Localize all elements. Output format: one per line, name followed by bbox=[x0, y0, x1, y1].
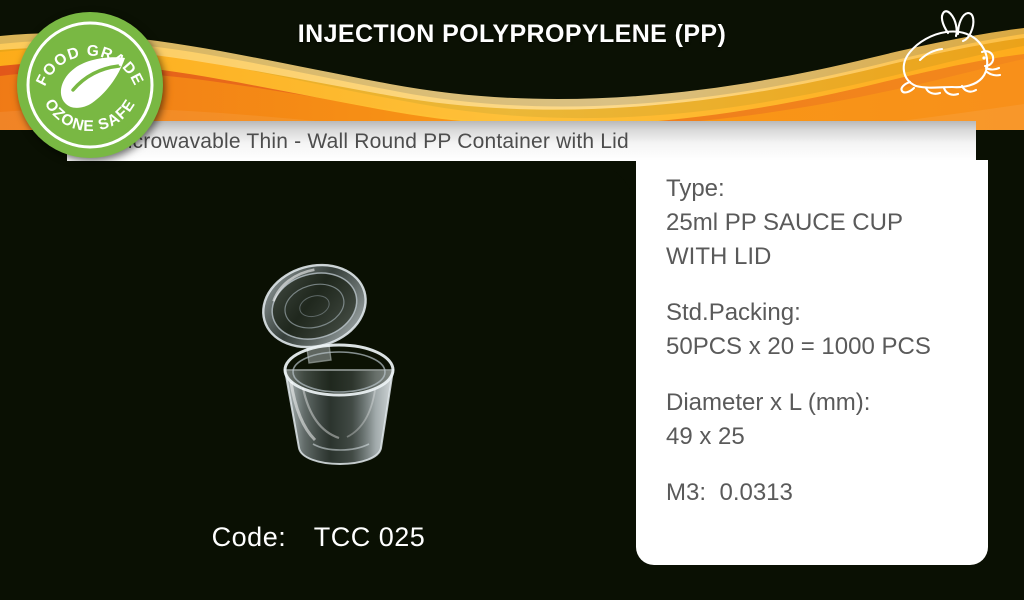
info-group-m3: M3: 0.0313 bbox=[666, 476, 988, 510]
info-group-dimensions: Diameter x L (mm): 49 x 25 bbox=[666, 386, 988, 454]
food-grade-ozone-safe-badge: FOOD GRADE OZONE SAFE bbox=[15, 10, 165, 160]
type-value-line2: WITH LID bbox=[666, 240, 988, 274]
product-info-panel: Type: 25ml PP SAUCE CUP WITH LID Std.Pac… bbox=[636, 160, 988, 565]
product-code-label: Code: bbox=[212, 522, 287, 552]
product-code: Code: TCC 025 bbox=[0, 522, 637, 553]
product-code-value: TCC 025 bbox=[314, 522, 426, 552]
type-value-line1: 25ml PP SAUCE CUP bbox=[666, 206, 988, 240]
dimensions-value: 49 x 25 bbox=[666, 420, 988, 454]
container-cup bbox=[285, 345, 393, 464]
m3-value: 0.0313 bbox=[719, 479, 792, 506]
type-label: Type: bbox=[666, 172, 988, 206]
rabbit-icon bbox=[886, 8, 1006, 103]
product-subtitle: Microwavable Thin - Wall Round PP Contai… bbox=[110, 130, 629, 154]
container-lid bbox=[253, 253, 375, 359]
product-spec-sheet: INJECTION POLYPROPYLENE (PP) Mic bbox=[0, 0, 1024, 600]
std-packing-label: Std.Packing: bbox=[666, 296, 988, 330]
info-group-type: Type: 25ml PP SAUCE CUP WITH LID bbox=[666, 172, 988, 274]
std-packing-value: 50PCS x 20 = 1000 PCS bbox=[666, 330, 988, 364]
dimensions-label: Diameter x L (mm): bbox=[666, 386, 988, 420]
m3-label: M3: bbox=[666, 479, 706, 506]
info-group-std-packing: Std.Packing: 50PCS x 20 = 1000 PCS bbox=[666, 296, 988, 364]
product-photo bbox=[243, 248, 433, 478]
